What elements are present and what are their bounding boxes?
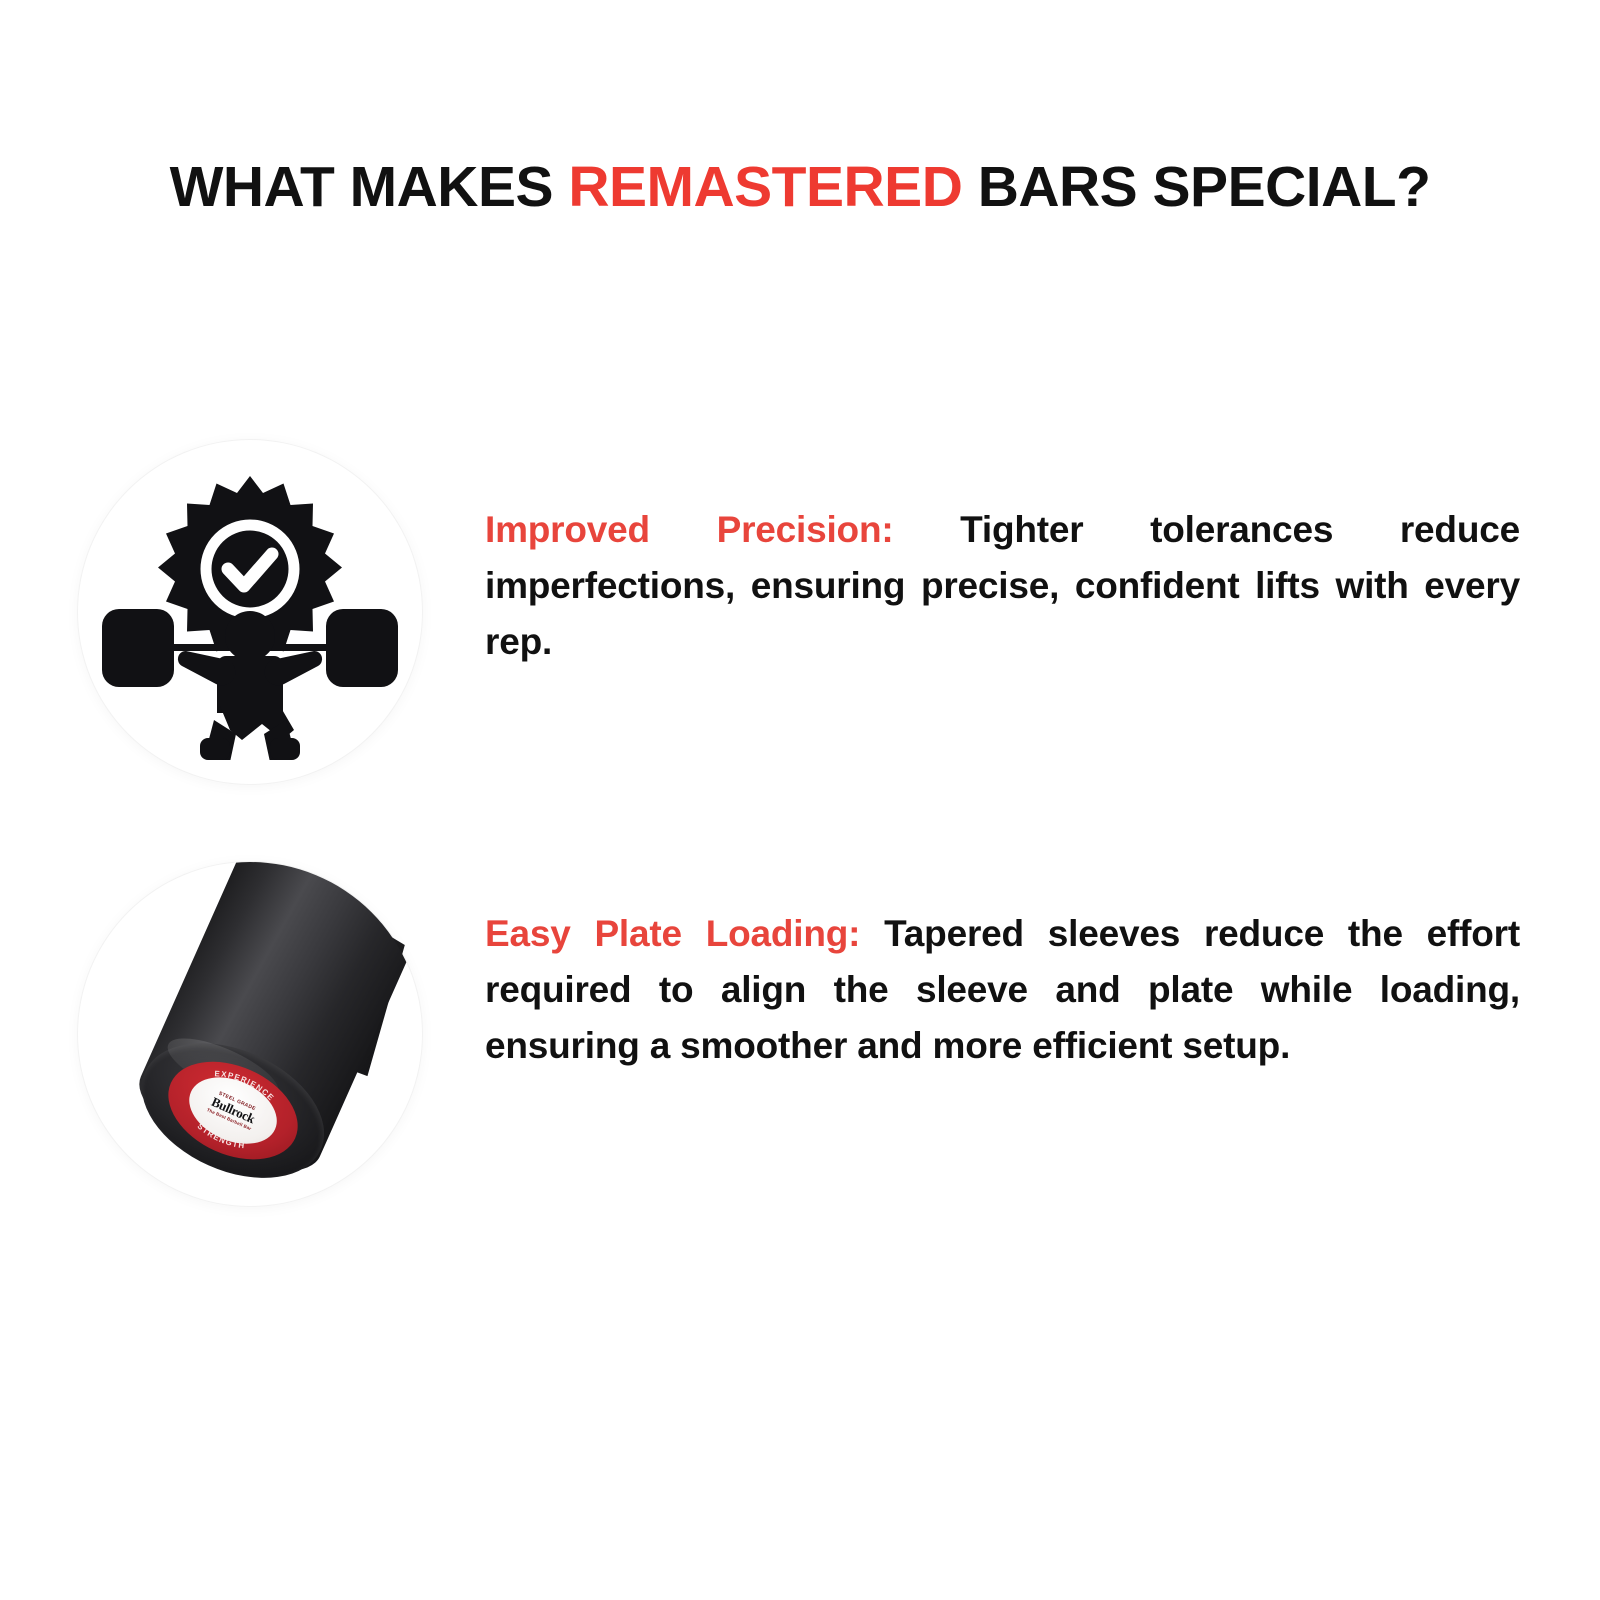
photo-circle-backdrop: EXPERIENCE STRENGTH STEEL GRADE Bull: [78, 862, 422, 1206]
feature-paragraph: Easy Plate Loading: Tapered sleeves redu…: [485, 906, 1520, 1075]
logo-center-disc: STEEL GRADE Bullrock The Best Barbell Ba…: [179, 1064, 287, 1156]
feature-improved-precision: Improved Precision: Tighter tolerances r…: [78, 440, 1520, 784]
weightlifter-figure: [178, 611, 322, 760]
feature-media-loading: EXPERIENCE STRENGTH STEEL GRADE Bull: [78, 862, 422, 1206]
page-title-part-2: BARS SPECIAL?: [962, 155, 1430, 219]
promo-page: WHAT MAKES REMASTERED BARS SPECIAL?: [0, 0, 1600, 1600]
feature-media-precision: [78, 440, 422, 784]
feature-label: Improved Precision:: [485, 509, 893, 550]
feature-label: Easy Plate Loading:: [485, 913, 860, 954]
feature-paragraph: Improved Precision: Tighter tolerances r…: [485, 502, 1520, 671]
sleeve-circle-clip: EXPERIENCE STRENGTH STEEL GRADE Bull: [78, 862, 422, 1206]
feature-copy-precision: Improved Precision: Tighter tolerances r…: [485, 440, 1520, 671]
quality-badge-weightlifter-icon: [100, 464, 400, 760]
page-title-accent: REMASTERED: [568, 155, 962, 219]
sleeve-body: EXPERIENCE STRENGTH STEEL GRADE Bull: [125, 862, 422, 1192]
feature-copy-loading: Easy Plate Loading: Tapered sleeves redu…: [485, 862, 1520, 1075]
feature-easy-plate-loading: EXPERIENCE STRENGTH STEEL GRADE Bull: [78, 862, 1520, 1206]
page-title-part-1: WHAT MAKES: [170, 155, 569, 219]
barbell-sleeve-endcap-photo: EXPERIENCE STRENGTH STEEL GRADE Bull: [78, 862, 422, 1206]
page-title: WHAT MAKES REMASTERED BARS SPECIAL?: [0, 158, 1600, 218]
icon-circle-backdrop: [78, 440, 422, 784]
barbell-plate-left: [102, 609, 174, 687]
barbell-plate-right: [326, 609, 398, 687]
